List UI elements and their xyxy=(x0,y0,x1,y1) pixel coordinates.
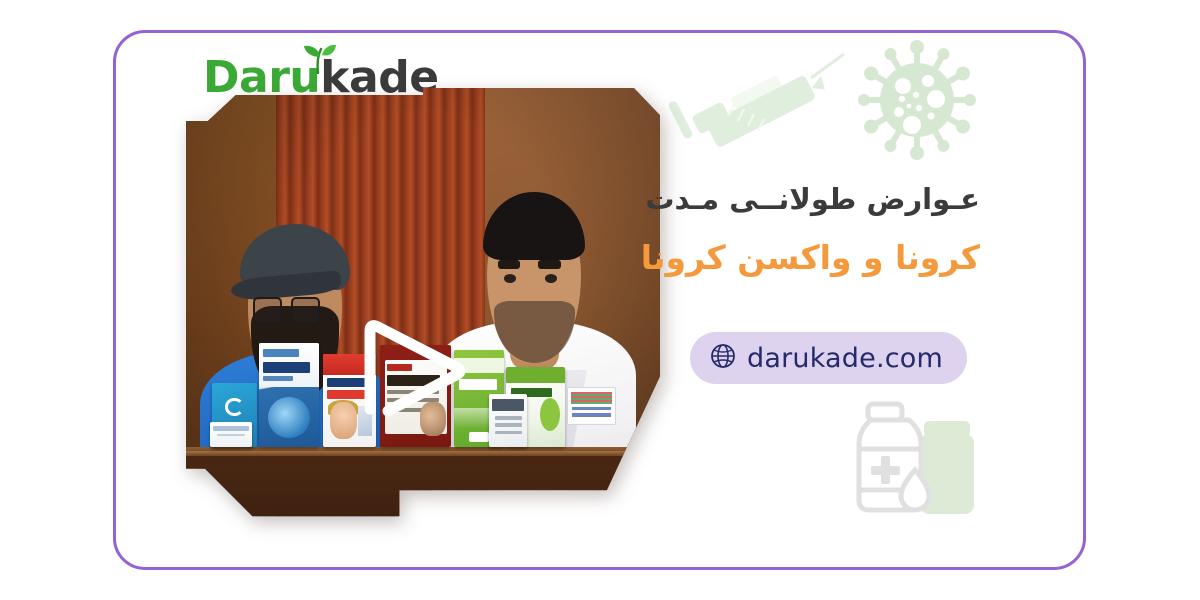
leaf-sprout-icon xyxy=(298,44,338,74)
video-frame[interactable] xyxy=(186,88,660,528)
coat-badge xyxy=(567,387,616,425)
headline-line2: کرونا و واکسن کرونا xyxy=(460,238,980,277)
poster-canvas: Darukade xyxy=(0,0,1200,600)
video-scene-image xyxy=(186,88,660,528)
product-box-zink-plus-paba xyxy=(323,354,375,446)
product-box-magnesium xyxy=(259,343,318,446)
product-box-small-white xyxy=(489,394,527,447)
website-url-text: darukade.com xyxy=(747,343,943,374)
globe-icon xyxy=(710,343,736,374)
desk xyxy=(186,447,660,528)
video-thumbnail[interactable] xyxy=(186,88,660,528)
website-pill[interactable]: darukade.com xyxy=(690,332,967,384)
product-box-ginseng-shot xyxy=(380,345,451,446)
product-box-pantene xyxy=(210,422,253,447)
headline-line1: عـوارض طولانــی مـدت xyxy=(460,182,980,216)
